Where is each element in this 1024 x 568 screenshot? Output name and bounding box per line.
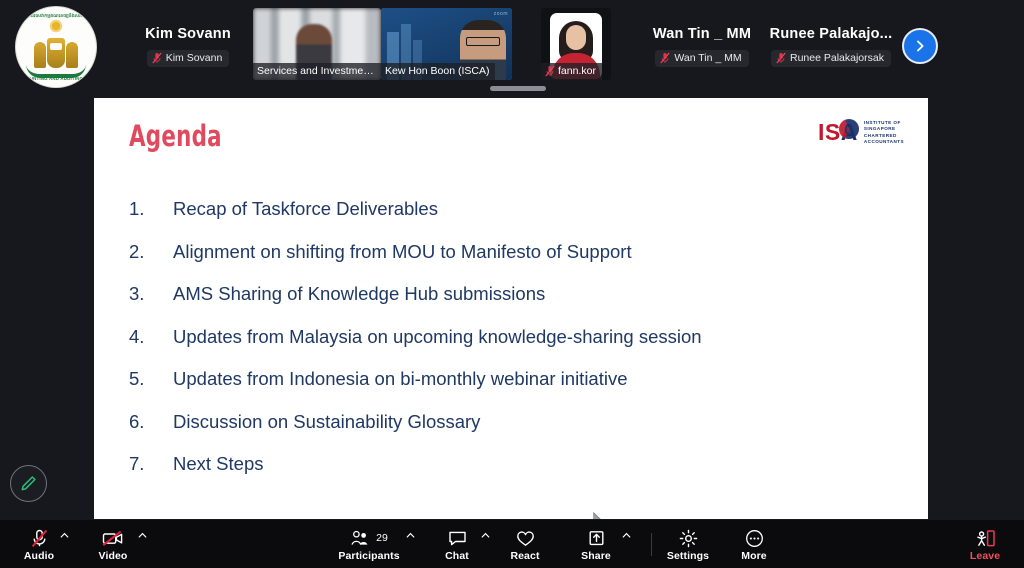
isca-subtitle: INSTITUTE OF SINGAPORE CHARTERED ACCOUNT… [864, 120, 904, 145]
mouse-cursor [593, 512, 604, 519]
participant-name-badge: Kew Hon Boon (ISCA) [381, 63, 495, 80]
participant-tile-kim-sovann[interactable]: Kim Sovann Kim Sovann [108, 6, 268, 86]
participant-name-badge: Kim Sovann [147, 50, 230, 67]
gear-icon [679, 529, 698, 548]
agenda-item-text: Updates from Malaysia on upcoming knowle… [173, 326, 702, 348]
participant-badge-name: Runee Palakajorsak [790, 52, 884, 64]
participants-options-caret-icon[interactable] [406, 531, 415, 540]
agenda-item: 5. Updates from Indonesia on bi-monthly … [129, 368, 908, 390]
isca-subtitle-line-4: ACCOUNTANTS [864, 139, 904, 145]
heart-icon [516, 529, 535, 548]
settings-button-label: Settings [667, 550, 709, 562]
participant-display-name: Runee Palakajo... [770, 26, 893, 42]
chat-button-label: Chat [445, 550, 469, 562]
agenda-item-text: Discussion on Sustainability Glossary [173, 411, 480, 433]
video-button-label: Video [99, 550, 128, 562]
agenda-item-number: 3. [129, 283, 173, 305]
react-button-label: React [510, 550, 539, 562]
agenda-item-text: AMS Sharing of Knowledge Hub submissions [173, 283, 545, 305]
audio-options-caret-icon[interactable] [60, 531, 69, 540]
agenda-item: 2. Alignment on shifting from MOU to Man… [129, 241, 908, 263]
participant-name-badge: Wan Tin _ MM [655, 50, 748, 67]
participants-button-label: Participants [338, 550, 399, 562]
agenda-item-number: 6. [129, 411, 173, 433]
video-button[interactable]: Video [92, 524, 134, 566]
agenda-item: 3. AMS Sharing of Knowledge Hub submissi… [129, 283, 908, 305]
share-button-label: Share [581, 550, 611, 562]
zoom-watermark: zoom [494, 11, 508, 17]
participant-name-badge: fann.kor [541, 63, 602, 80]
pencil-icon [19, 474, 38, 493]
isca-mark-is: IS [818, 119, 841, 145]
zoom-meeting-window: អាជ្ញាធរសេវាកម្មគណនេយ្យនិងសវនកម្ម ACCOUN… [0, 0, 1024, 568]
agenda-item-number: 7. [129, 453, 173, 475]
page-title: Agenda [129, 119, 222, 153]
next-page-button[interactable] [902, 28, 938, 64]
leave-button[interactable]: Leave [963, 524, 1007, 566]
agenda-item-number: 1. [129, 198, 173, 220]
participant-tile-services-and-investment[interactable]: Services and Investment ... [253, 8, 381, 80]
chevron-right-icon [913, 39, 927, 53]
audio-button[interactable]: Audio [18, 524, 60, 566]
microphone-muted-icon [660, 52, 670, 64]
meeting-toolbar: Audio Video [0, 520, 1024, 568]
agenda-item-text: Updates from Indonesia on bi-monthly web… [173, 368, 628, 390]
share-button[interactable]: Share [575, 524, 617, 566]
settings-button[interactable]: Settings [664, 524, 712, 566]
camera-muted-icon [102, 529, 124, 548]
agenda-item: 1. Recap of Taskforce Deliverables [129, 198, 908, 220]
acar-cambodia-emblem: អាជ្ញាធរសេវាកម្មគណនេយ្យនិងសវនកម្ម ACCOUN… [8, 6, 104, 88]
toolbar-divider [651, 533, 652, 556]
participant-badge-name: Wan Tin _ MM [674, 52, 741, 64]
isca-logo: ISA INSTITUTE OF SINGAPORE CHARTERED ACC… [818, 120, 904, 145]
audio-button-label: Audio [24, 550, 54, 562]
video-options-caret-icon[interactable] [138, 531, 147, 540]
participant-badge-name: Kim Sovann [166, 52, 223, 64]
microphone-muted-icon [776, 52, 786, 64]
participant-name-badge: Services and Investment ... [253, 63, 381, 80]
chat-options-caret-icon[interactable] [481, 531, 490, 540]
agenda-item: 4. Updates from Malaysia on upcoming kno… [129, 326, 908, 348]
agenda-list: 1. Recap of Taskforce Deliverables 2. Al… [129, 198, 908, 496]
emblem-ring-bottom-text: ACCOUNTING AND AUDITING REGULATOR [16, 76, 96, 81]
participant-display-name: Wan Tin _ MM [653, 26, 751, 42]
agenda-item-text: Alignment on shifting from MOU to Manife… [173, 241, 632, 263]
agenda-item-number: 4. [129, 326, 173, 348]
participant-tile-runee-palakajorsak[interactable]: Runee Palakajo... Runee Palakajorsak [757, 6, 905, 86]
participant-strip: អាជ្ញាធរសេវាកម្មគណនេយ្យនិងសវនកម្ម ACCOUN… [0, 0, 1024, 92]
chat-bubble-icon [448, 529, 467, 548]
participant-tile-fann-kor[interactable]: fann.kor [541, 8, 611, 80]
agenda-item-text: Recap of Taskforce Deliverables [173, 198, 438, 220]
glasses-icon [466, 37, 500, 46]
participant-tile-kew-hon-boon[interactable]: zoom Kew Hon Boon (ISCA) [381, 8, 512, 80]
agenda-item-text: Next Steps [173, 453, 264, 475]
participant-name-badge: Runee Palakajorsak [771, 50, 891, 67]
share-options-caret-icon[interactable] [622, 531, 631, 540]
react-button[interactable]: React [504, 524, 546, 566]
leave-button-label: Leave [970, 550, 1000, 562]
leave-door-icon [975, 529, 996, 548]
more-button-label: More [741, 550, 767, 562]
chat-button[interactable]: Chat [436, 524, 478, 566]
participants-icon [350, 530, 372, 547]
ellipsis-circle-icon [745, 529, 764, 548]
agenda-item: 6. Discussion on Sustainability Glossary [129, 411, 908, 433]
share-screen-icon [587, 529, 606, 548]
agenda-item-number: 5. [129, 368, 173, 390]
participants-count: 29 [376, 532, 388, 544]
microphone-muted-icon [31, 529, 48, 548]
scrollbar-thumb[interactable] [490, 86, 546, 91]
participant-strip-scrollbar[interactable] [95, 86, 929, 91]
participant-badge-name: Kew Hon Boon (ISCA) [385, 65, 489, 77]
microphone-muted-icon [545, 65, 555, 77]
isca-wordmark: ISA [818, 121, 858, 144]
participant-display-name: Kim Sovann [145, 26, 231, 42]
shared-screen-slide[interactable]: Agenda ISA INSTITUTE OF SINGAPORE CHARTE… [94, 98, 928, 519]
participants-button[interactable]: 29 Participants [338, 524, 400, 566]
more-button[interactable]: More [733, 524, 775, 566]
participant-badge-name: Services and Investment ... [257, 65, 375, 77]
annotate-button[interactable] [10, 465, 47, 502]
agenda-item: 7. Next Steps [129, 453, 908, 475]
participant-badge-name: fann.kor [558, 65, 596, 77]
microphone-muted-icon [152, 52, 162, 64]
agenda-item-number: 2. [129, 241, 173, 263]
